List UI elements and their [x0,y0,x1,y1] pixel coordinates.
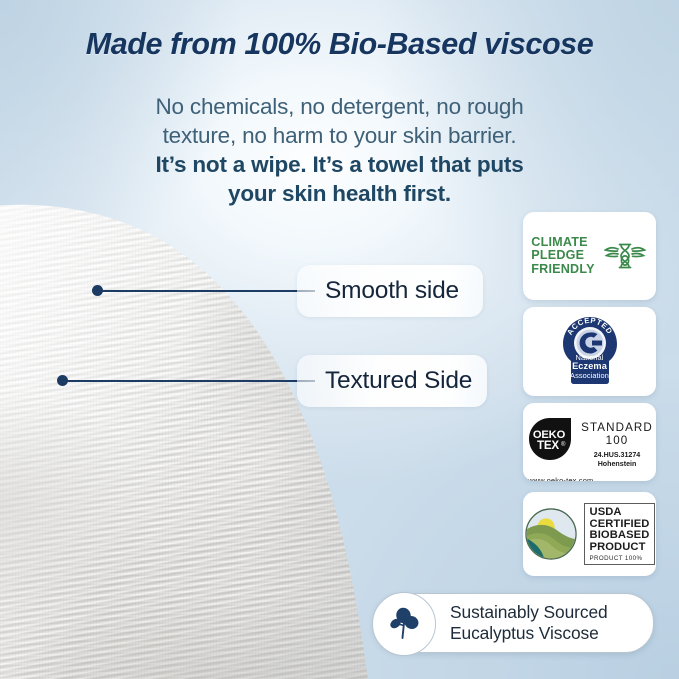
oeko-tex-number: 100 [581,434,653,447]
eucalyptus-line-2: Eucalyptus Viscose [450,623,608,644]
oeko-tex-droplet-icon: OEKO TEX ® [526,417,574,465]
callout-smooth-side: Smooth side [297,265,483,317]
eucalyptus-line-1: Sustainably Sourced [450,602,608,623]
badge-climate-pledge-friendly: CLIMATE PLEDGE FRIENDLY [523,212,656,300]
badge-oeko-tex-standard-100: OEKO TEX ® STANDARD 100 24.HUS.31274 Hoh… [523,403,656,481]
subtitle-line-4: your skin health first. [60,179,619,208]
badge-national-eczema-association: ACCEPTED National Eczema Association [523,307,656,396]
callout-textured-side: Textured Side [297,355,487,407]
oeko-tex-url: www.oeko-tex.com [528,476,593,481]
climate-pledge-line-1: CLIMATE [531,236,594,249]
eczema-seal-icon: ACCEPTED National Eczema Association [559,315,621,389]
subtitle-line-1: No chemicals, no detergent, no rough [60,92,619,121]
climate-pledge-line-2: PLEDGE [531,249,594,262]
svg-text:TEX: TEX [537,439,559,452]
usda-content: USDA CERTIFIED BIOBASED PRODUCT PRODUCT … [524,503,656,565]
usda-line-1: USDA [590,507,650,519]
callout-label-textured-side: Textured Side [325,367,472,395]
subtitle-line-3: It’s not a wipe. It’s a towel that puts [60,150,619,179]
infographic-canvas: Made from 100% Bio-Based viscose No chem… [0,0,679,679]
oeko-tex-certificate: 24.HUS.31274 [581,451,653,460]
oeko-tex-standard-label: STANDARD [581,421,653,434]
eucalyptus-leaf-icon [384,604,424,644]
usda-sun-hills-icon [524,507,578,561]
badge-usda-certified-biobased-product: USDA CERTIFIED BIOBASED PRODUCT PRODUCT … [523,492,656,576]
callout-leader-line-textured-side [62,380,315,382]
climate-pledge-line-3: FRIENDLY [531,263,594,276]
oeko-tex-text-block: STANDARD 100 24.HUS.31274 Hohenstein [581,417,653,468]
callout-label-smooth-side: Smooth side [325,277,459,305]
usda-line-4: PRODUCT [590,542,650,554]
eucalyptus-icon-circle [372,592,436,656]
usda-sub-label: PRODUCT 100% [590,555,650,562]
subtitle-block: No chemicals, no detergent, no rough tex… [60,92,619,208]
subtitle-line-2: texture, no harm to your skin barrier. [60,121,619,150]
eczema-wordmark: National Eczema Association [559,353,621,380]
eczema-line-3: Association [559,371,621,380]
climate-pledge-content: CLIMATE PLEDGE FRIENDLY [531,236,647,276]
climate-pledge-wordmark: CLIMATE PLEDGE FRIENDLY [531,236,594,276]
eucalyptus-label: Sustainably Sourced Eucalyptus Viscose [450,602,608,644]
winged-hourglass-icon [604,238,648,274]
oeko-tex-content: OEKO TEX ® STANDARD 100 24.HUS.31274 Hoh… [526,415,653,468]
eczema-line-2: Eczema [559,362,621,371]
usda-wordmark-box: USDA CERTIFIED BIOBASED PRODUCT PRODUCT … [584,503,656,565]
callout-leader-line-smooth-side [97,290,315,292]
eucalyptus-callout-pill: Sustainably Sourced Eucalyptus Viscose [373,593,654,653]
page-title: Made from 100% Bio-Based viscose [0,27,679,62]
svg-text:®: ® [561,441,566,448]
oeko-tex-institute: Hohenstein [581,460,653,469]
